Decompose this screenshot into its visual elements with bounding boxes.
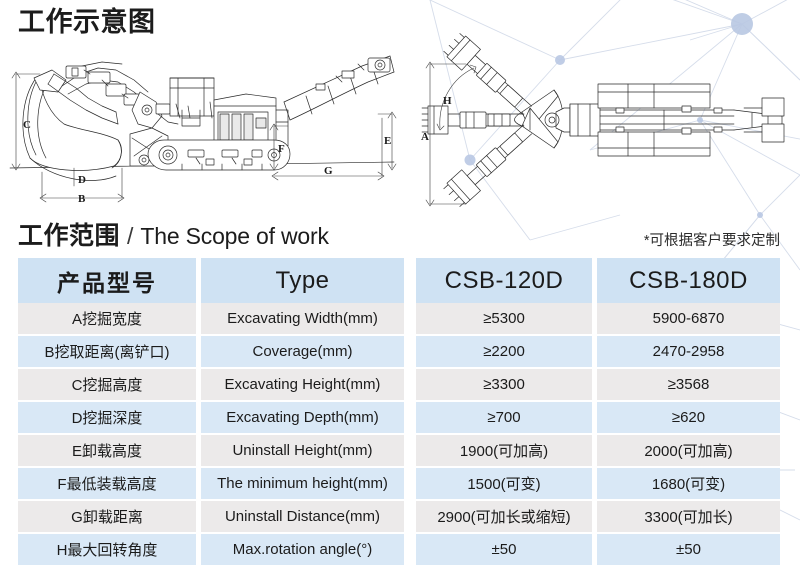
cell-param-cn: B挖取距离(离铲口) xyxy=(18,336,196,367)
scope-heading: 工作范围 / The Scope of work xyxy=(18,216,329,252)
cell-param-en: Excavating Width(mm) xyxy=(201,303,404,334)
dim-label-E: E xyxy=(384,135,391,147)
cell-param-cn: C挖掘高度 xyxy=(18,369,196,400)
table-row: B挖取距离(离铲口)Coverage(mm)≥22002470-2958 xyxy=(18,336,780,367)
cell-param-en: Uninstall Height(mm) xyxy=(201,435,404,466)
cell-gap-2 xyxy=(404,501,416,532)
cell-gap-2 xyxy=(404,468,416,499)
cell-value-csb-120d: ±50 xyxy=(416,534,592,565)
cell-value-csb-180d: 2000(可加高) xyxy=(597,435,780,466)
cell-value-csb-180d: ±50 xyxy=(597,534,780,565)
table-row: A挖掘宽度Excavating Width(mm)≥53005900-6870 xyxy=(18,303,780,334)
cell-value-csb-180d: 1680(可变) xyxy=(597,468,780,499)
cell-value-csb-180d: 5900-6870 xyxy=(597,303,780,334)
header-cell-csb-120d: CSB-120D xyxy=(416,258,592,303)
dim-label-A: A xyxy=(421,131,429,143)
table-row: F最低装载高度The minimum height(mm)1500(可变)168… xyxy=(18,468,780,499)
dim-label-D: D xyxy=(78,174,86,186)
page-title-working-diagram: 工作示意图 xyxy=(18,5,156,39)
scope-heading-cn: 工作范围 xyxy=(18,216,120,252)
cell-value-csb-120d: ≥700 xyxy=(416,402,592,433)
cell-param-en: Coverage(mm) xyxy=(201,336,404,367)
cell-param-en: Max.rotation angle(°) xyxy=(201,534,404,565)
header-cell-model: 产品型号 xyxy=(18,258,196,303)
cell-param-cn: H最大回转角度 xyxy=(18,534,196,565)
table-row: E卸载高度Uninstall Height(mm)1900(可加高)2000(可… xyxy=(18,435,780,466)
table-row: H最大回转角度Max.rotation angle(°)±50±50 xyxy=(18,534,780,565)
cell-param-cn: D挖掘深度 xyxy=(18,402,196,433)
dim-label-B: B xyxy=(78,193,86,205)
cell-value-csb-120d: 1500(可变) xyxy=(416,468,592,499)
specification-table: 产品型号 Type CSB-120D CSB-180D A挖掘宽度Excavat… xyxy=(18,258,780,565)
cell-value-csb-180d: ≥620 xyxy=(597,402,780,433)
cell-value-csb-180d: 3300(可加长) xyxy=(597,501,780,532)
scope-heading-en: The Scope of work xyxy=(140,223,328,250)
cell-param-cn: A挖掘宽度 xyxy=(18,303,196,334)
cell-param-en: The minimum height(mm) xyxy=(201,468,404,499)
cell-value-csb-120d: ≥3300 xyxy=(416,369,592,400)
cell-gap-2 xyxy=(404,435,416,466)
table-header: 产品型号 Type CSB-120D CSB-180D xyxy=(18,258,780,303)
header-gap-2 xyxy=(404,258,416,303)
top-view-diagram: H A xyxy=(404,30,796,208)
cell-gap-2 xyxy=(404,369,416,400)
cell-value-csb-180d: 2470-2958 xyxy=(597,336,780,367)
cell-param-cn: F最低装载高度 xyxy=(18,468,196,499)
cell-value-csb-180d: ≥3568 xyxy=(597,369,780,400)
cell-value-csb-120d: 2900(可加长或缩短) xyxy=(416,501,592,532)
cell-gap-2 xyxy=(404,534,416,565)
dim-label-C: C xyxy=(23,119,31,131)
table-header-row: 产品型号 Type CSB-120D CSB-180D xyxy=(18,258,780,303)
dim-label-G: G xyxy=(324,165,333,177)
table-row: G卸载距离Uninstall Distance(mm)2900(可加长或缩短)3… xyxy=(18,501,780,532)
dim-label-H: H xyxy=(443,95,452,107)
customization-note: *可根据客户要求定制 xyxy=(644,229,780,250)
product-spec-page: 工作示意图 xyxy=(0,0,800,582)
cell-gap-2 xyxy=(404,402,416,433)
side-view-diagram: C D B F G E xyxy=(6,40,398,208)
cell-param-cn: G卸载距离 xyxy=(18,501,196,532)
cell-param-cn: E卸载高度 xyxy=(18,435,196,466)
header-cell-type: Type xyxy=(201,258,404,303)
header-cell-csb-180d: CSB-180D xyxy=(597,258,780,303)
table-row: C挖掘高度Excavating Height(mm)≥3300≥3568 xyxy=(18,369,780,400)
table-body: A挖掘宽度Excavating Width(mm)≥53005900-6870B… xyxy=(18,303,780,565)
cell-param-en: Excavating Height(mm) xyxy=(201,369,404,400)
table-row: D挖掘深度Excavating Depth(mm)≥700≥620 xyxy=(18,402,780,433)
cell-param-en: Excavating Depth(mm) xyxy=(201,402,404,433)
cell-value-csb-120d: 1900(可加高) xyxy=(416,435,592,466)
cell-value-csb-120d: ≥5300 xyxy=(416,303,592,334)
cell-value-csb-120d: ≥2200 xyxy=(416,336,592,367)
cell-gap-2 xyxy=(404,303,416,334)
cell-param-en: Uninstall Distance(mm) xyxy=(201,501,404,532)
cell-gap-2 xyxy=(404,336,416,367)
scope-heading-separator: / xyxy=(127,223,133,250)
dim-label-F: F xyxy=(278,143,285,155)
